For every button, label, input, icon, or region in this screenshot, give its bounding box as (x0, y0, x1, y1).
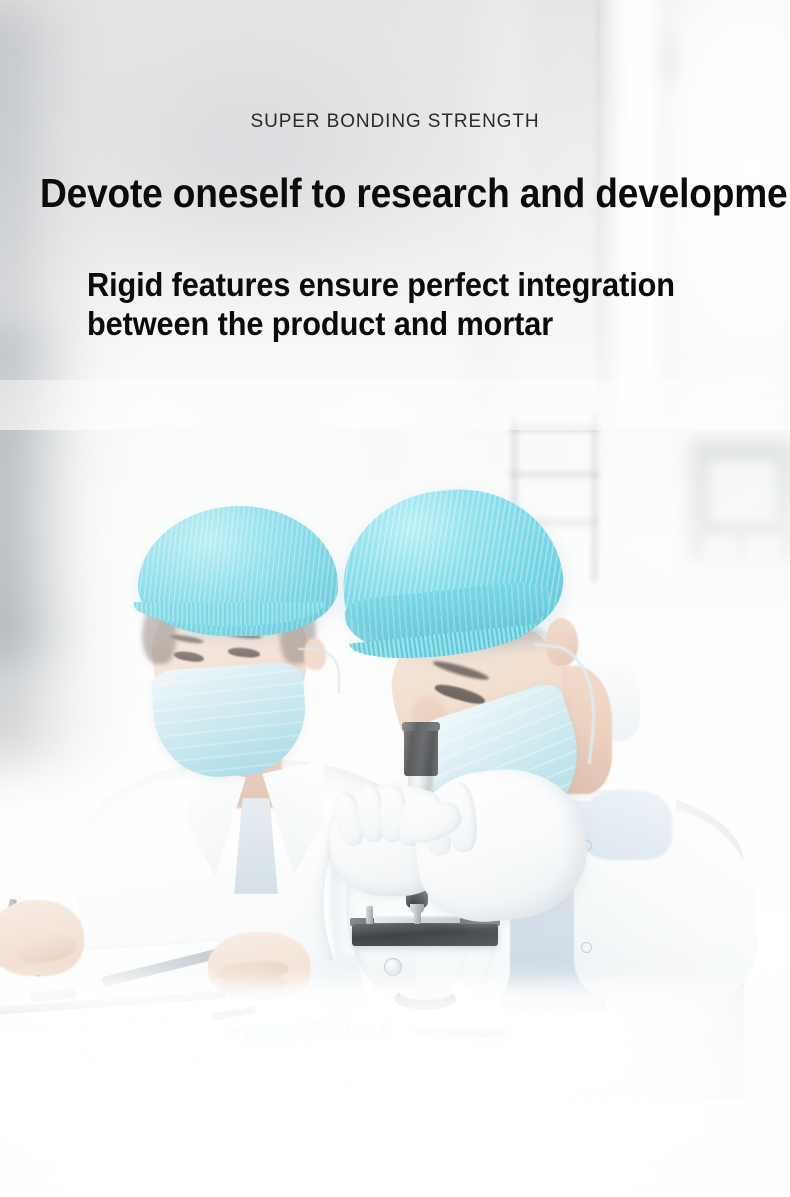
sleeve-cuff (580, 790, 672, 860)
microscope-objective-tip (410, 904, 424, 913)
microscope-focus-knob (384, 958, 402, 976)
shelf-bar-middle (510, 472, 600, 477)
table-glare (0, 980, 790, 1197)
background-haze (0, 0, 790, 430)
microscope-stage (352, 924, 498, 946)
microscope-eyepiece (404, 726, 438, 776)
promo-banner: SUPER BONDING STRENGTH Devote oneself to… (0, 0, 790, 1197)
microscope-stage-clip-left (366, 906, 373, 924)
microscope-eyepiece-top (402, 722, 440, 731)
shirt-button-bottom (581, 942, 592, 953)
